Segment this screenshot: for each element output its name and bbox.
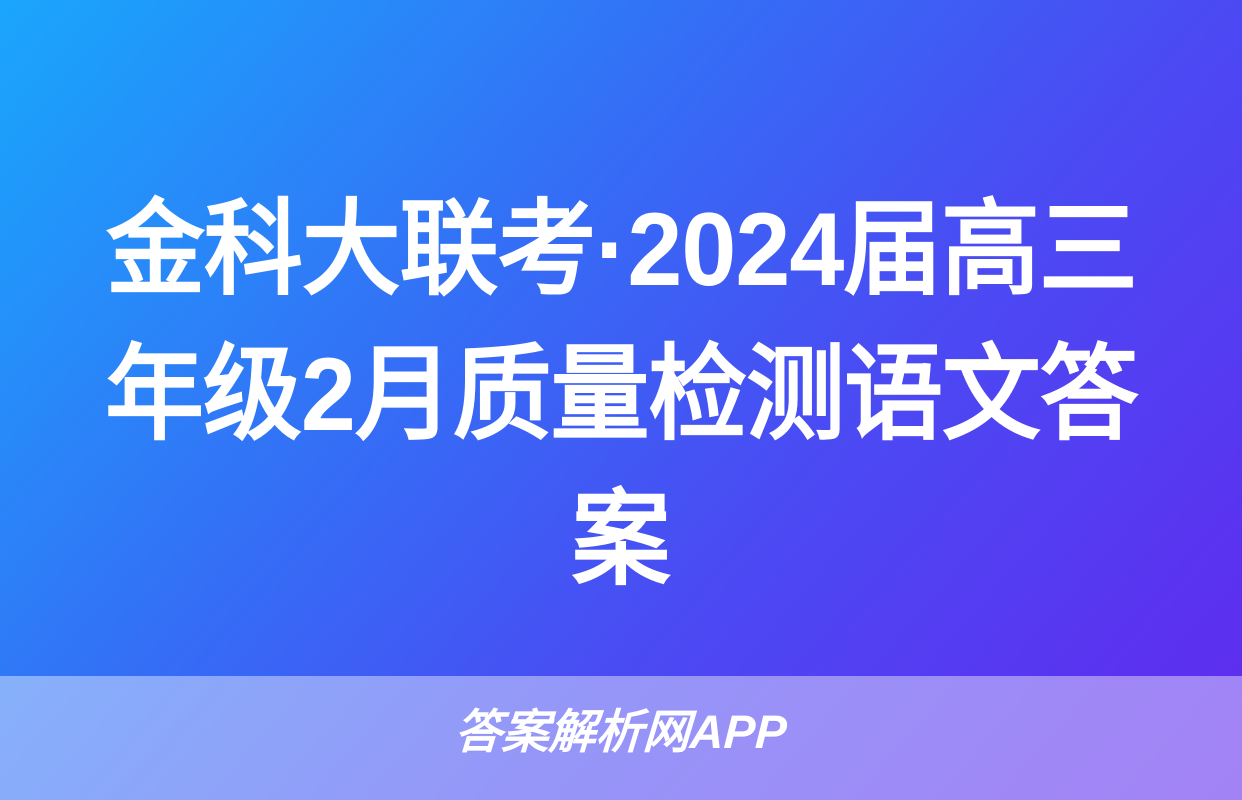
cover-image: 金科大联考·2024届高三 年级2月质量检测语文答 案 答案解析网APP: [0, 0, 1242, 800]
page-title-line-2: 年级2月质量检测语文答: [0, 323, 1242, 468]
page-title: 金科大联考·2024届高三 年级2月质量检测语文答 案: [0, 178, 1242, 613]
watermark-label: 答案解析网APP: [0, 704, 1242, 760]
page-title-line-3: 案: [0, 468, 1242, 613]
page-title-line-1: 金科大联考·2024届高三: [0, 178, 1242, 323]
